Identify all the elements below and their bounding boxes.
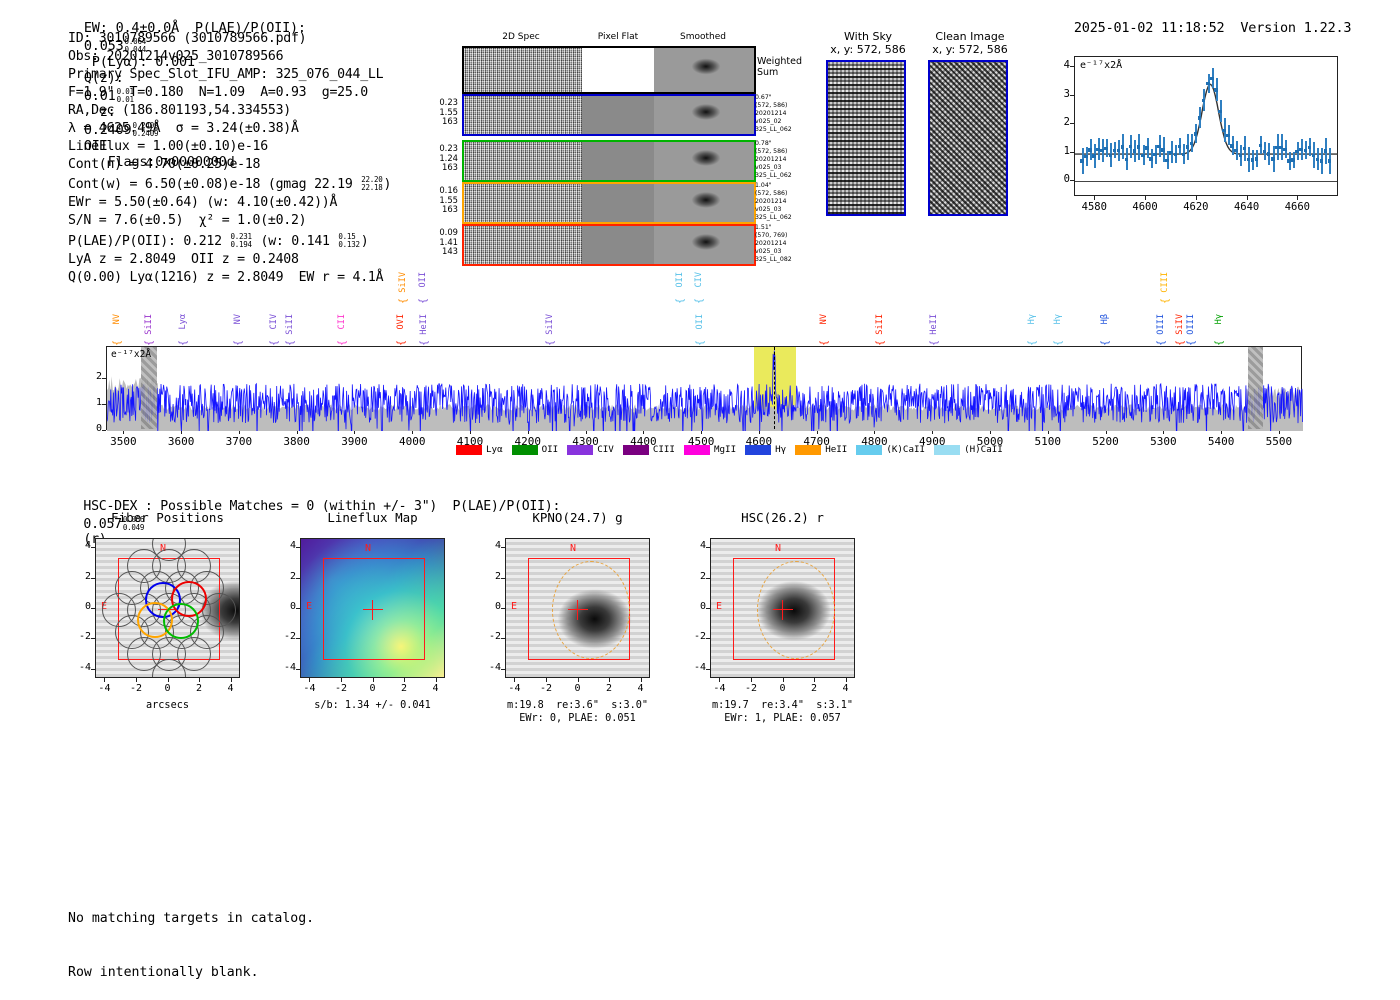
panel-1-ytick--2: -2 [280,631,296,642]
linefit-datapoint [1304,149,1308,153]
panel-1-ytick-mark [296,669,300,670]
linefit-ytick-4: 4 [1054,59,1070,71]
montage-col-title-2: Smoothed [653,32,753,42]
panel-3-ytick-mark [706,638,710,639]
panel-2-ytick--4: -4 [485,662,501,673]
panel-3-ytick-2: 2 [690,571,706,582]
legend-item-hγ: Hγ [745,444,786,455]
cutout-title-text-0: With Sky [826,30,910,43]
spectrum-line-label-lyα-2: Lyα [178,314,188,330]
montage-col-title-1: Pixel Flat [587,32,649,42]
legend-label-5: Hγ [775,444,786,455]
montage-row-meta-0: 0.67" (572, 586) 20201214 v025_02 325_LL… [755,94,813,134]
linefit-datapoint [1084,155,1088,159]
legend-item-hcaii: (H)CaII [934,444,1003,455]
panel-0-xtick-2: 2 [185,683,213,694]
panel-3-xtick-mark [751,678,752,682]
montage-row-1 [462,140,756,182]
panel-2-ytick-2: 2 [485,571,501,582]
panel-3-ytick-mark [706,608,710,609]
spectrum-ytick-mark [102,378,106,379]
montage-row-values-0: 0.231.55163 [425,98,458,127]
header-datetime: 2025-01-02 11:18:52 [1074,20,1225,36]
montage-row-2 [462,182,756,224]
legend-item-ciii: CIII [623,444,675,455]
linefit-datapoint [1198,116,1202,120]
spectrum-line-label-civ-4: CIV [269,314,279,330]
linefit-ytick-3: 3 [1054,88,1070,100]
linefit-datapoint [1230,144,1234,148]
panel-2-xtick-mark [578,678,579,682]
montage-cell-2dspec [464,184,582,222]
panel-2-compass-north: N [570,543,576,554]
panel-1-xtick-2: 2 [390,683,418,694]
panel-0-ytick-mark [91,547,95,548]
spectrum-xtick-5400: 5400 [1201,435,1241,448]
linefit-xtick-4660: 4660 [1280,201,1314,213]
linefit-datapoint [1100,149,1104,153]
panel-3-xtick-mark [783,678,784,682]
spectrum-line-brace-24: { [1186,340,1197,346]
linefit-datapoint [1194,132,1198,136]
spectrum-line-label-siii-1: SiII [144,314,154,335]
panel-title-2: KPNO(24.7) g [460,510,695,525]
spectrum-line-brace-20: { [1100,340,1111,346]
panel-0-xtick-mark [231,678,232,682]
montage-cell-pixelflat [582,226,654,264]
info-plae-poii: P(LAE)/P(OII): 0.212 0.2310.194 (w: 0.14… [68,231,391,251]
panel-1-ytick-2: 2 [280,571,296,582]
spectrum-line-label-cii-6: CII [337,314,347,330]
linefit-datapoint [1080,159,1084,163]
panel-image-0: NE [95,538,240,678]
spectrum-unit-label: e⁻¹⁷x2Å [111,349,151,360]
spectrum-line-brace-15: { [819,340,830,346]
legend-label-2: CIV [597,444,614,455]
panel-title-0: Fiber Positions [50,510,285,525]
panel-2-compass-east: E [511,601,517,612]
linefit-xtick-4640: 4640 [1230,201,1264,213]
linefit-datapoint [1104,147,1108,151]
montage-cell-pixelflat [582,96,654,134]
panel-1-ytick-mark [296,578,300,579]
panel-1-xtick-mark [404,678,405,682]
panel-3-ytick-4: 4 [690,540,706,551]
panel-0-ytick-mark [91,638,95,639]
legend-label-1: OII [542,444,559,455]
panel-3-xtick-mark [719,678,720,682]
panel-caption-1: s/b: 1.34 +/- 0.041 [255,700,490,713]
panel-image-2: NE [505,538,650,678]
panel-0-xtick-mark [136,678,137,682]
panel-3-ytick-mark [706,578,710,579]
legend-label-6: HeII [825,444,847,455]
cutout-subtitle-0: x, y: 572, 586 [826,43,910,56]
panel-3-xtick--4: -4 [705,683,733,694]
spectrum-line-label-siiv-23: SiIV [1175,314,1185,335]
spectrum-line-label-heii-10: HeII [419,314,429,335]
panel-1-xtick-mark [341,678,342,682]
legend-swatch-2 [567,445,593,455]
panel-1-ytick-4: 4 [280,540,296,551]
spectrum-line-brace-18: { [1027,340,1038,346]
spectrum-line-brace-13: { [694,298,705,304]
info-gmag-bounds: 22.2022.18 [361,176,382,192]
source-info-block: ID: 3010789566 (3010789566.pdf) Obs: 202… [68,30,391,287]
montage-cell-pixelflat [582,48,654,92]
info-lineflux: LineFlux = 1.00(±0.10)e-16 [68,138,391,156]
montage-cell-smoothed [654,142,754,180]
info-cont-n: Cont(n) = 4.70(±0.25)e-18 [68,156,391,174]
montage-row-meta-3: 1.51" (570, 769) 20201214 v025_03 325_LL… [755,224,813,264]
panel-2-xtick-mark [514,678,515,682]
linefit-datapoint [1308,146,1312,150]
panel-1-xtick--2: -2 [327,683,355,694]
linefit-datapoint [1275,146,1279,150]
legend-label-0: Lyα [486,444,503,455]
panel-0-ytick-mark [91,608,95,609]
spectrum-line-label-heii-17: HeII [929,314,939,335]
legend-item-oii: OII [512,444,559,455]
panel-3-xtick-mark [814,678,815,682]
linefit-datapoint [1121,145,1125,149]
panel-3-ytick-mark [706,669,710,670]
info-obs: Obs: 20201214v025_3010789566 [68,48,391,66]
linefit-datapoint [1092,154,1096,158]
linefit-ytick-2: 2 [1054,116,1070,128]
montage-row-values-3: 0.091.41143 [425,228,458,257]
panel-3-ytick-mark [706,547,710,548]
panel-2-ytick-mark [501,638,505,639]
legend-item-mgii: MgII [684,444,736,455]
cutout-subtitle-1: x, y: 572, 586 [928,43,1012,56]
panel-0-ytick--4: -4 [75,662,91,673]
linefit-xtick-mark [1094,196,1095,200]
panel-1-compass-east: E [306,601,312,612]
spectrum-masked-region-1 [1248,347,1262,429]
spectrum-line-brace-10: { [419,340,430,346]
panel-1-xtick-4: 4 [422,683,450,694]
panel-2-xtick-4: 4 [627,683,655,694]
panel-image-1: NE [300,538,445,678]
spectrum-line-label-siii-5: SiII [285,314,295,335]
cutout-images: With Skyx, y: 572, 586Clean Imagex, y: 5… [818,30,1018,245]
spectrum-xtick-3500: 3500 [103,435,143,448]
montage-cell-2dspec [464,96,582,134]
panel-0-ytick--2: -2 [75,631,91,642]
panel-1-xtick-mark [436,678,437,682]
panel-2-ytick-4: 4 [485,540,501,551]
info-radec: RA,Dec (186.801193,54.334553) [68,102,391,120]
panel-caption-2: m:19.8 re:3.6" s:3.0" EWr: 0, PLAE: 0.05… [460,700,695,725]
linefit-datapoint [1113,149,1117,153]
linefit-axes: e⁻¹⁷x2Å [1074,56,1338,196]
spectrum-line-label-siii-16: SiII [875,314,885,335]
panel-1-xtick-mark [373,678,374,682]
panel-3-xtick--2: -2 [737,683,765,694]
panel-2-ytick-mark [501,578,505,579]
spectrum-line-label-ciii-21: CIII [1160,272,1170,293]
panel-3-xtick-0: 0 [769,683,797,694]
spectrum-line-label-nv-3: NV [233,314,243,324]
panel-1-ytick-mark [296,638,300,639]
cutout-title-1: Clean Imagex, y: 572, 586 [928,30,1012,56]
montage-cell-2dspec [464,142,582,180]
linefit-datapoint [1186,145,1190,149]
spectrum-traces [107,347,1303,431]
linefit-ytick-1: 1 [1054,145,1070,157]
panel-image-3: NE [710,538,855,678]
panel-0-xtick--2: -2 [122,683,150,694]
panel-2-xtick-mark [609,678,610,682]
panel-2-ytick-mark [501,547,505,548]
panel-2-ytick-0: 0 [485,601,501,612]
panel-1-compass-north: N [365,543,371,554]
footer-line-1: No matching targets in catalog. [68,910,314,928]
panel-0-xtick-4: 4 [217,683,245,694]
linefit-xtick-4620: 4620 [1179,201,1213,213]
cutout-title-text-1: Clean Image [928,30,1012,43]
spectrum-line-label-siiv-11: SiIV [545,314,555,335]
legend-item-civ: CIV [567,444,614,455]
info-ewr: EWr = 5.50(±0.64) (w: 4.10(±0.42))Å [68,194,391,212]
panel-0-xtick-0: 0 [154,683,182,694]
montage-cell-pixelflat [582,184,654,222]
spectrum-legend: LyαOIICIVCIIIMgIIHγHeII(K)CaII(H)CaII [456,444,1012,455]
linefit-datapoint [1267,152,1271,156]
linefit-datapoint [1133,149,1137,153]
spectrum-line-label-hβ-20: Hβ [1100,314,1110,324]
legend-label-3: CIII [653,444,675,455]
montage-row-0 [462,94,756,136]
spectrum-line-label-oiii-22: OIII [1156,314,1166,335]
linefit-datapoint [1218,110,1222,114]
cutout-image-1 [928,60,1008,216]
linefit-datapoint [1202,99,1206,103]
footer-note: No matching targets in catalog. Row inte… [68,874,314,1000]
montage-cell-smoothed [654,96,754,134]
panel-caption-0: arcsecs [50,700,285,713]
linefit-datapoint [1263,150,1267,154]
panel-3-xtick-mark [846,678,847,682]
legend-swatch-8 [934,445,960,455]
panel-1-ytick--4: -4 [280,662,296,673]
panel-0-xtick-mark [199,678,200,682]
info-redshifts: LyA z = 2.8049 OII z = 0.2408 [68,251,391,269]
spectrum-line-brace-11: { [545,340,556,346]
linefit-datapoint [1239,154,1243,158]
spectrum-line-brace-19: { [1053,340,1064,346]
linefit-xtick-4600: 4600 [1128,201,1162,213]
spectrum-ytick-1: 1 [90,397,102,408]
spectrum-line-brace-1: { [144,340,155,346]
linefit-datapoint [1190,142,1194,146]
panel-0-ytick-mark [91,669,95,670]
montage-row-values-2: 0.161.55163 [425,186,458,215]
linefit-datapoint [1174,153,1178,157]
line-fit-plot: e⁻¹⁷x2Å0123445804600462046404660 [1030,50,1350,240]
montage-cell-pixelflat [582,142,654,180]
linefit-datapoint [1109,154,1113,158]
spectrum-line-label-oiii-24: OIII [1186,314,1196,335]
spectrum-line-brace-17: { [929,340,940,346]
spectrum-line-brace-9: { [396,340,407,346]
montage-row-meta-1: 0.78" (572, 586) 20201214 v025_03 325_LL… [755,140,813,180]
info-cont-w: Cont(w) = 6.50(±0.08)e-18 (gmag 22.19 22… [68,174,391,194]
panel-title-1: Lineflux Map [255,510,490,525]
panel-1-ytick-0: 0 [280,601,296,612]
linefit-datapoint [1129,145,1133,149]
spectrum-line-brace-22: { [1156,340,1167,346]
linefit-ytick-mark [1070,152,1074,153]
panel-0-xtick-mark [104,678,105,682]
panel-3-compass-east: E [716,601,722,612]
panel-2-xtick--4: -4 [500,683,528,694]
cutout-image-0 [826,60,906,216]
linefit-datapoint [1088,148,1092,152]
linefit-datapoint [1210,77,1214,81]
spectrum-line-brace-4: { [269,340,280,346]
panel-2-xtick--2: -2 [532,683,560,694]
spectrum-line-brace-21: { [1160,298,1171,304]
linefit-datapoint [1214,88,1218,92]
spectrum-line-label-hγ-25: Hγ [1214,314,1224,324]
info-plae-bounds: 0.2310.194 [230,233,251,249]
spectrum-ytick-0: 0 [90,423,102,434]
panel-2-aperture [552,561,630,659]
linefit-datapoint [1291,158,1295,162]
montage-cell-2dspec [464,48,582,92]
panel-0-xtick-mark [168,678,169,682]
legend-swatch-0 [456,445,482,455]
panel-2-ytick--2: -2 [485,631,501,642]
panel-3-ytick--4: -4 [690,662,706,673]
panel-1-xtick--4: -4 [295,683,323,694]
panel-0-ytick-4: 4 [75,540,91,551]
linefit-datapoint [1283,148,1287,152]
spectrum-xtick-3600: 3600 [161,435,201,448]
panel-2-xtick-2: 2 [595,683,623,694]
header-timestamp-version: 2025-01-02 11:18:52 Version 1.22.3 [1058,4,1351,36]
panel-2-ytick-mark [501,608,505,609]
linefit-datapoint [1182,153,1186,157]
panel-title-3: HSC(26.2) r [665,510,900,525]
montage-row-weighted-sum [462,46,756,94]
spectrum-line-label-nv-0: NV [112,314,122,324]
linefit-xtick-mark [1247,196,1248,200]
spectrum-line-label-civ-13: CIV [694,272,704,288]
legend-swatch-5 [745,445,771,455]
info-snr-chi2: S/N = 7.6(±0.5) χ² = 1.0(±0.2) [68,212,391,230]
panel-3-ytick--2: -2 [690,631,706,642]
full-spectrum-plot: e⁻¹⁷x2Å012350036003700380039004000410042… [86,268,1314,468]
linefit-datapoint [1279,146,1283,150]
linefit-datapoint [1259,144,1263,148]
info-wavelength-sigma: λ = 4625.49Å σ = 3.24(±0.38)Å [68,120,391,138]
linefit-datapoint [1222,129,1226,133]
spectrum-line-label-hγ-18: Hγ [1027,314,1037,324]
spectrum-ytick-mark [102,430,106,431]
panel-3-aperture [757,561,835,659]
spectrum-line-brace-12: { [675,298,686,304]
spectrum-xtick-3700: 3700 [219,435,259,448]
spectrum-line-brace-5: { [285,340,296,346]
spectrum-xtick-4000: 4000 [392,435,432,448]
spectrum-line-label-oii-14: OII [695,314,705,330]
spectrum-line-brace-25: { [1214,340,1225,346]
legend-swatch-3 [623,445,649,455]
linefit-xtick-mark [1196,196,1197,200]
spectrum-xtick-5200: 5200 [1086,435,1126,448]
spectrum-xtick-3800: 3800 [277,435,317,448]
montage-row-values-1: 0.231.24163 [425,144,458,173]
linefit-datapoint [1149,157,1153,161]
panel-1-crosshair-v [372,600,373,620]
legend-swatch-1 [512,445,538,455]
panel-0-xtick--4: -4 [90,683,118,694]
linefit-datapoint [1299,148,1303,152]
linefit-datapoint [1251,158,1255,162]
spectrum-line-brace-0: { [112,340,123,346]
header-version: Version 1.22.3 [1240,20,1351,36]
panel-3-xtick-2: 2 [800,683,828,694]
linefit-datapoint [1328,159,1332,163]
montage-weighted-sum-label: Weighted Sum [757,56,802,78]
spectrum-line-brace-6: { [337,340,348,346]
panel-0-ytick-0: 0 [75,601,91,612]
spectrum-ytick-2: 2 [90,371,102,382]
spectrum-line-label-oii-12: OII [675,272,685,288]
linefit-datapoint [1206,82,1210,86]
montage-cell-smoothed [654,184,754,222]
spectrum-line-label-siiv-7: SiIV [398,272,408,293]
panel-1-xtick-mark [309,678,310,682]
linefit-ytick-mark [1070,123,1074,124]
spectrum-line-brace-14: { [695,340,706,346]
linefit-xtick-mark [1297,196,1298,200]
linefit-ytick-mark [1070,180,1074,181]
info-seeing-throughput: F=1.9" T=0.180 N=1.09 A=0.93 g=25.0 [68,84,391,102]
linefit-datapoint [1125,158,1129,162]
legend-label-8: (H)CaII [964,444,1003,455]
panel-1-xtick-0: 0 [359,683,387,694]
spectrum-line-brace-2: { [178,340,189,346]
montage-cell-2dspec [464,226,582,264]
linefit-datapoint [1312,154,1316,158]
linefit-xtick-4580: 4580 [1077,201,1111,213]
spectrum-xtick-5500: 5500 [1259,435,1299,448]
panel-2-xtick-0: 0 [564,683,592,694]
legend-swatch-4 [684,445,710,455]
spectrum-line-label-oii-8: OII [418,272,428,288]
imaging-panels: Fiber PositionsNE-4-4-2-2002244arcsecsLi… [60,510,800,725]
montage-row-3 [462,224,756,266]
spectrum-xtick-5100: 5100 [1028,435,1068,448]
linefit-ytick-0: 0 [1054,173,1070,185]
linefit-datapoint [1295,150,1299,154]
montage-cell-smoothed [654,226,754,264]
linefit-datapoint [1324,149,1328,153]
panel-2-xtick-mark [546,678,547,682]
spectrum-line-label-hγ-19: Hγ [1053,314,1063,324]
legend-label-7: (K)CaII [886,444,925,455]
spectrum-ytick-mark [102,404,106,405]
footer-line-2: Row intentionally blank. [68,964,314,982]
panel-3-compass-north: N [775,543,781,554]
linefit-xtick-mark [1145,196,1146,200]
spectrum-xtick-3900: 3900 [334,435,374,448]
linefit-ytick-mark [1070,95,1074,96]
